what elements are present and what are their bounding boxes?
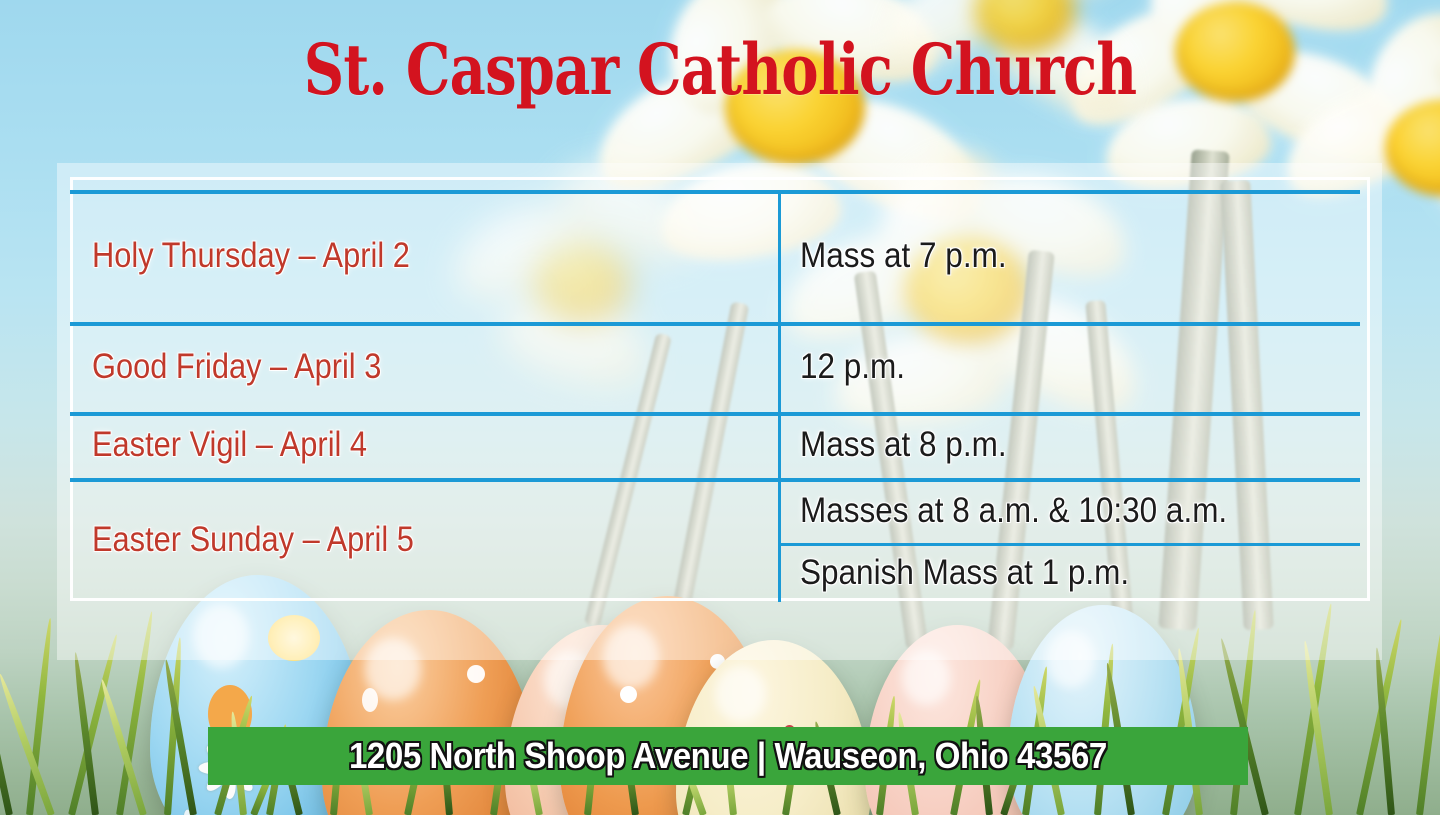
table-row: Mass at 7 p.m. (800, 190, 1350, 322)
table-row: Easter Vigil – April 4 (92, 412, 772, 478)
address-banner: 1205 North Shoop Avenue | Wauseon, Ohio … (208, 727, 1248, 785)
mass-schedule-table: Holy Thursday – April 2 Mass at 7 p.m. G… (70, 190, 1360, 602)
table-row: Holy Thursday – April 2 (92, 190, 772, 322)
address-text: 1205 North Shoop Avenue | Wauseon, Ohio … (349, 735, 1107, 777)
schedule-time-label: Spanish Mass at 1 p.m. (800, 553, 1129, 593)
table-row: Mass at 8 p.m. (800, 412, 1350, 478)
table-column-divider (778, 190, 781, 602)
schedule-time-label: Mass at 8 p.m. (800, 425, 1007, 465)
schedule-time-label: 12 p.m. (800, 347, 905, 387)
table-row: Easter Sunday – April 5 (92, 478, 772, 602)
schedule-day-label: Easter Sunday – April 5 (92, 520, 414, 560)
page-title: St. Caspar Catholic Church (144, 28, 1296, 111)
table-row: Spanish Mass at 1 p.m. (800, 543, 1360, 602)
schedule-time-label: Mass at 7 p.m. (800, 236, 1007, 276)
schedule-day-label: Holy Thursday – April 2 (92, 236, 410, 276)
schedule-time-label: Masses at 8 a.m. & 10:30 a.m. (800, 491, 1227, 531)
table-row: 12 p.m. (800, 322, 1350, 412)
table-row: Masses at 8 a.m. & 10:30 a.m. (800, 478, 1360, 543)
easter-mass-schedule-flyer: St. Caspar Catholic Church Holy Thursday… (0, 0, 1440, 815)
schedule-day-label: Easter Vigil – April 4 (92, 425, 367, 465)
table-row: Good Friday – April 3 (92, 322, 772, 412)
schedule-day-label: Good Friday – April 3 (92, 347, 381, 387)
